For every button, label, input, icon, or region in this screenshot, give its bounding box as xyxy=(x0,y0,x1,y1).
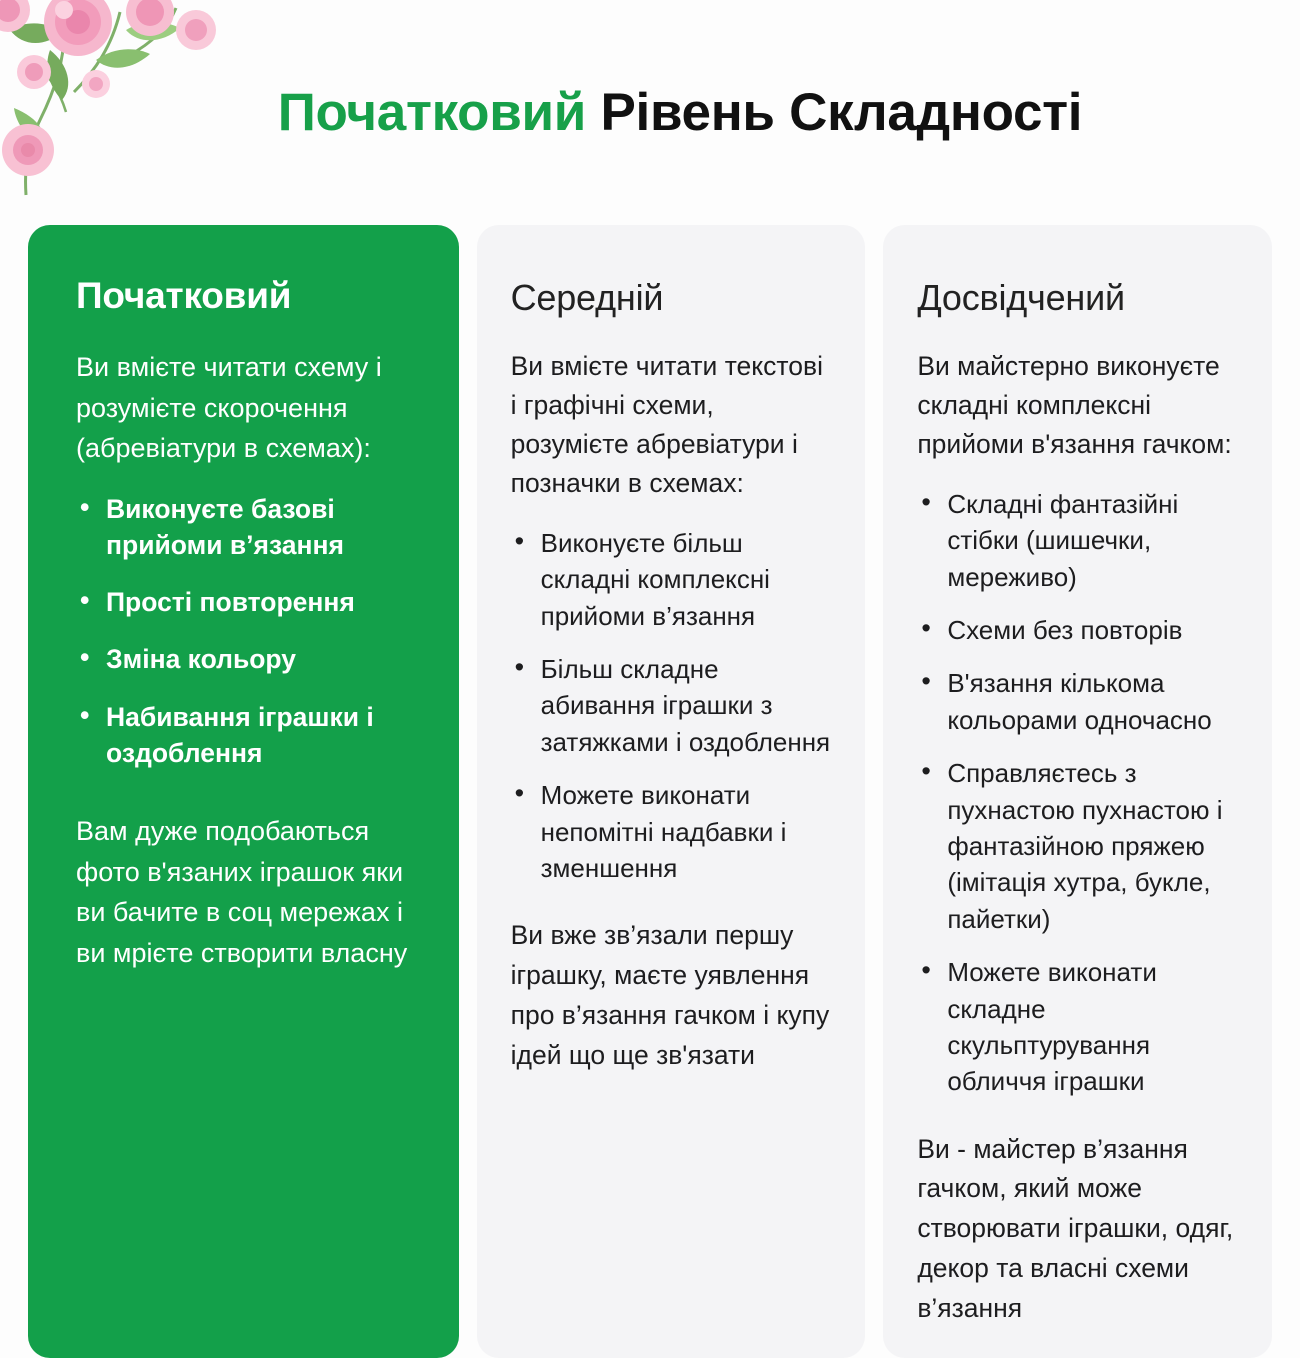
level-card-intermediate: Середній Ви вмієте читати текстові і гра… xyxy=(477,225,866,1358)
card-intro: Ви майстерно виконуєте складні комплексн… xyxy=(917,347,1242,464)
list-item: Виконуєте більш складні комплексні прийо… xyxy=(511,525,836,634)
card-intro: Ви вмієте читати текстові і графічні схе… xyxy=(511,347,836,503)
list-item: Можете виконати непомітні надбавки і зме… xyxy=(511,777,836,886)
page-title-accent: Початковий xyxy=(278,83,586,142)
card-outro: Ви - майстер в’язання гачком, який може … xyxy=(917,1130,1242,1329)
list-item: В'язання кількома кольорами одночасно xyxy=(917,665,1242,738)
card-bullet-list: Виконуєте більш складні комплексні прийо… xyxy=(511,525,836,887)
list-item: Прості повторення xyxy=(76,584,425,620)
list-item: Більш складне абивання іграшки з затяжка… xyxy=(511,651,836,760)
page-title-rest: Рівень Складності xyxy=(586,83,1082,142)
list-item: Набивання іграшки і оздоблення xyxy=(76,699,425,772)
card-heading: Середній xyxy=(511,277,836,319)
level-card-beginner: Початковий Ви вмієте читати схему і розу… xyxy=(28,225,459,1358)
card-outro: Ви вже зв’язали першу іграшку, маєте уяв… xyxy=(511,916,836,1075)
level-card-experienced: Досвідчений Ви майстерно виконуєте склад… xyxy=(883,225,1272,1358)
list-item: Справляєтесь з пухнастою пухнастою і фан… xyxy=(917,755,1242,937)
card-heading: Початковий xyxy=(76,275,425,317)
page-title: Початковий Рівень Складності xyxy=(0,82,1300,143)
list-item: Схеми без повторів xyxy=(917,612,1242,648)
card-intro: Ви вмієте читати схему і розумієте скоро… xyxy=(76,347,425,469)
list-item: Можете виконати складне скульптурування … xyxy=(917,954,1242,1100)
card-heading: Досвідчений xyxy=(917,277,1242,319)
list-item: Складні фантазійні стібки (шишечки, мере… xyxy=(917,486,1242,595)
card-bullet-list: Складні фантазійні стібки (шишечки, мере… xyxy=(917,486,1242,1100)
list-item: Зміна кольору xyxy=(76,641,425,677)
card-bullet-list: Виконуєте базові прийоми в’язання Прості… xyxy=(76,491,425,772)
level-cards-row: Початковий Ви вмієте читати схему і розу… xyxy=(28,225,1272,1358)
card-outro: Вам дуже подобаються фото в'язаних іграш… xyxy=(76,811,425,973)
list-item: Виконуєте базові прийоми в’язання xyxy=(76,491,425,564)
